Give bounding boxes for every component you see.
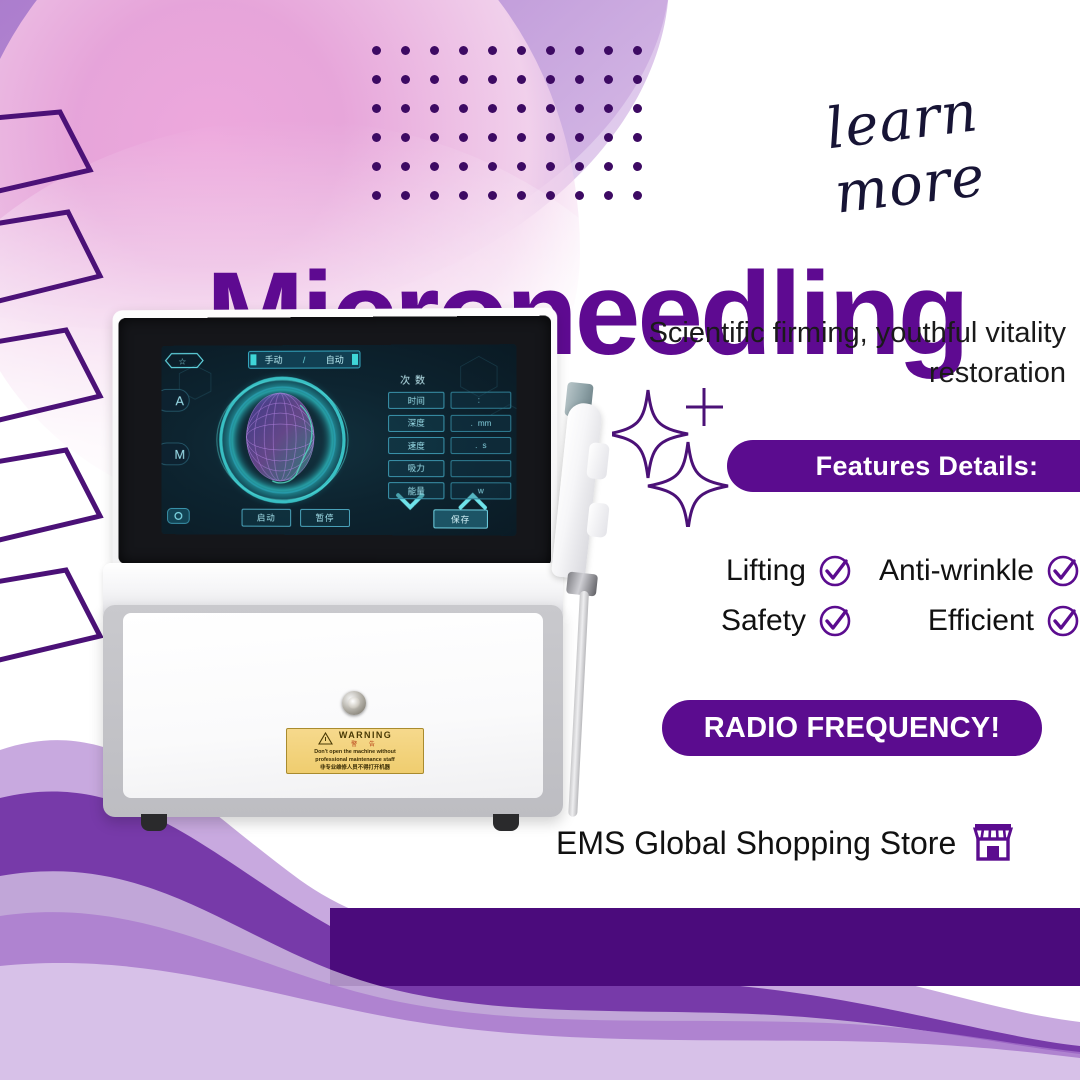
param-label: 速度 <box>408 439 425 451</box>
side-tab-a[interactable]: A <box>175 393 184 408</box>
start-button-label: 启动 <box>257 512 276 524</box>
warning-line-3: 非专业维修人员不得打开机器 <box>320 764 390 772</box>
circle-check-icon <box>818 554 852 588</box>
param-value: . <box>475 441 477 450</box>
store-name: EMS Global Shopping Store <box>556 825 956 862</box>
param-row-energy: 能量 w <box>388 482 511 499</box>
circle-check-icon <box>1046 554 1080 588</box>
param-unit: s <box>482 441 486 450</box>
param-value-field[interactable]: : <box>451 392 512 409</box>
radio-frequency-badge: RADIO FREQUENCY! <box>662 700 1042 756</box>
circle-check-icon <box>1046 604 1080 638</box>
param-value-field[interactable]: w <box>451 482 512 499</box>
microneedling-machine: ☆ <box>95 305 595 835</box>
machine-foot <box>493 814 519 831</box>
circle-check-icon <box>818 604 852 638</box>
param-label: 能量 <box>408 485 425 497</box>
handpiece-holder-clip <box>586 442 610 480</box>
param-row-depth: 深度 . mm <box>388 414 511 431</box>
warning-heading-cn: 警 告 <box>351 739 380 748</box>
feature-item-anti-wrinkle: Anti-wrinkle <box>852 554 1080 588</box>
warning-line-2: professional maintenance staff <box>315 756 394 764</box>
feature-item-safety: Safety <box>700 604 852 638</box>
touchscreen-display[interactable]: ☆ <box>162 344 517 536</box>
warning-sticker: WARNING 警 告 Don't open the machine witho… <box>286 728 424 774</box>
param-value-field[interactable]: . s <box>451 437 512 454</box>
pause-button-label: 暂停 <box>316 512 335 524</box>
side-tab-m[interactable]: M <box>174 447 185 462</box>
param-value-field[interactable] <box>451 460 512 477</box>
feature-item-lifting: Lifting <box>700 554 852 588</box>
param-label: 吸力 <box>408 462 425 474</box>
feature-label: Safety <box>721 604 806 638</box>
storefront-icon <box>970 818 1016 869</box>
panel-screw-knob <box>342 691 366 715</box>
feature-label: Lifting <box>726 554 806 588</box>
handpiece-cable <box>568 591 589 817</box>
cabinet-body: WARNING 警 告 Don't open the machine witho… <box>103 605 563 817</box>
param-label: 深度 <box>408 417 425 429</box>
feature-label: Anti-wrinkle <box>879 554 1034 588</box>
store-branding: EMS Global Shopping Store <box>556 818 1016 869</box>
feature-label: Efficient <box>928 604 1034 638</box>
feature-item-efficient: Efficient <box>852 604 1080 638</box>
feature-row: Safety Efficient <box>700 600 1080 642</box>
param-value: . <box>470 418 472 427</box>
feature-row: Lifting Anti-wrinkle <box>700 550 1080 592</box>
save-button-label: 保存 <box>451 513 470 525</box>
warning-triangle-icon <box>318 732 333 745</box>
features-details-label: Features Details: <box>816 451 1039 482</box>
mode-separator: / <box>303 355 306 365</box>
features-details-pill: Features Details: <box>727 440 1080 492</box>
mode-manual-label[interactable]: 手动 <box>265 353 283 366</box>
param-value: : <box>478 396 480 405</box>
param-value-field[interactable]: . mm <box>451 414 512 431</box>
handpiece-holder-clip <box>586 502 609 538</box>
pause-button[interactable]: 暂停 <box>300 509 350 527</box>
start-button[interactable]: 启动 <box>242 509 292 527</box>
feature-list: Lifting Anti-wrinkle Safety Efficient <box>700 550 1080 650</box>
mode-auto-label[interactable]: 自动 <box>326 353 344 366</box>
poster-canvas: learn more Microneedling Scientific firm… <box>0 0 1080 1080</box>
machine-foot <box>141 814 167 831</box>
param-row-suction: 吸力 <box>388 460 511 477</box>
handpiece-body <box>551 402 603 580</box>
param-row-time: 时间 : <box>388 392 511 409</box>
save-button[interactable]: 保存 <box>433 509 488 528</box>
radio-frequency-label: RADIO FREQUENCY! <box>704 712 1000 745</box>
rf-handpiece <box>540 377 620 647</box>
warning-line-1: Don't open the machine without <box>314 748 396 756</box>
param-unit: mm <box>478 418 492 427</box>
param-label: 时间 <box>408 394 425 406</box>
panel-title: 次 数 <box>400 372 426 387</box>
learn-more-script-label: learn more <box>749 70 1063 236</box>
param-unit: w <box>478 486 484 495</box>
param-row-speed: 速度 . s <box>388 437 511 454</box>
cabinet-front-panel: WARNING 警 告 Don't open the machine witho… <box>123 613 543 798</box>
